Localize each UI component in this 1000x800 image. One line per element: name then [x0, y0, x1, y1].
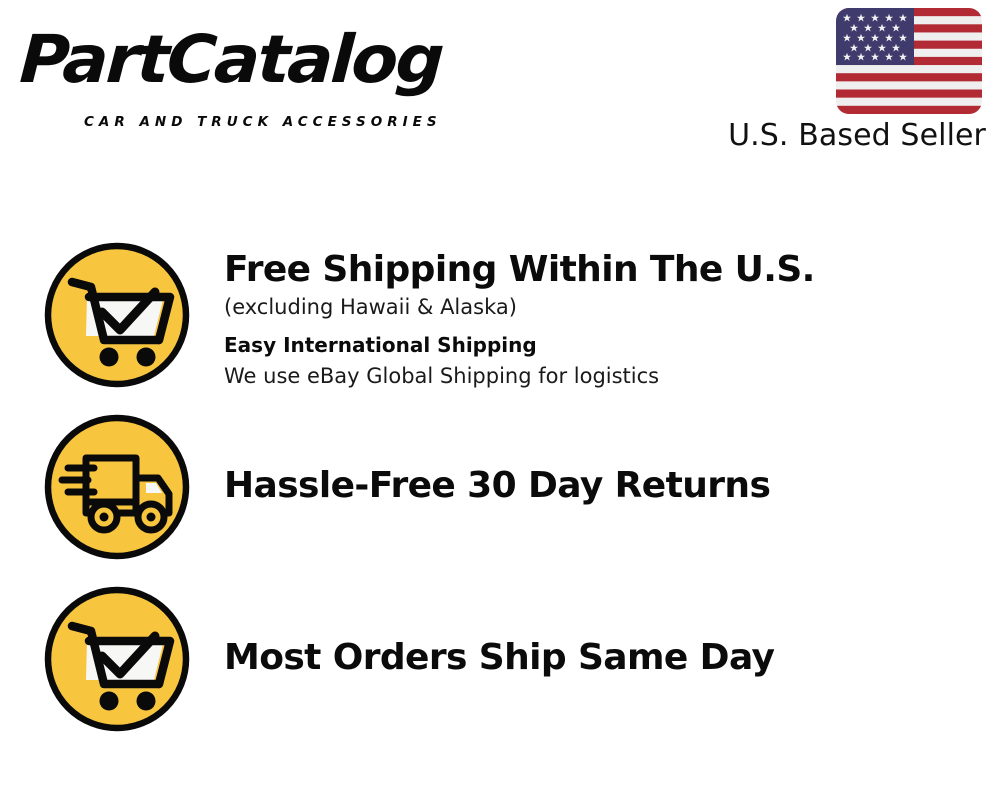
- brand-wordmark: PartCatalog: [18, 22, 444, 98]
- brand-logo[interactable]: PartCatalog CAR AND TRUCK ACCESSORIES: [22, 22, 492, 117]
- us-flag-icon: [836, 8, 982, 114]
- cart-check-icon: [42, 584, 192, 734]
- feature-icon-wrapper: [42, 584, 194, 734]
- cart-check-icon: [42, 240, 192, 390]
- us-based-seller-badge: U.S. Based Seller: [718, 8, 986, 154]
- feature-text-block: Free Shipping Within The U.S. (excluding…: [194, 240, 1000, 392]
- feature-icon-wrapper: [42, 412, 194, 562]
- us-based-seller-label: U.S. Based Seller: [718, 118, 986, 154]
- feature-icon-wrapper: [42, 240, 194, 390]
- feature-subtitle: (excluding Hawaii & Alaska): [224, 292, 1000, 323]
- page-header: PartCatalog CAR AND TRUCK ACCESSORIES: [0, 0, 1000, 175]
- feature-subtitle-strong: Easy International Shipping: [224, 329, 1000, 361]
- feature-subtitle-detail: We use eBay Global Shipping for logistic…: [224, 361, 1000, 392]
- feature-title: Free Shipping Within The U.S.: [224, 248, 1000, 292]
- delivery-truck-icon: [42, 412, 192, 562]
- feature-text-block: Hassle-Free 30 Day Returns: [194, 412, 1000, 508]
- feature-row-same-day-shipping: Most Orders Ship Same Day: [0, 584, 1000, 756]
- brand-tagline: CAR AND TRUCK ACCESSORIES: [84, 114, 442, 130]
- feature-row-returns: Hassle-Free 30 Day Returns: [0, 412, 1000, 584]
- feature-row-free-shipping: Free Shipping Within The U.S. (excluding…: [0, 240, 1000, 412]
- feature-title: Most Orders Ship Same Day: [224, 636, 1000, 680]
- feature-text-block: Most Orders Ship Same Day: [194, 584, 1000, 680]
- feature-title: Hassle-Free 30 Day Returns: [224, 464, 1000, 508]
